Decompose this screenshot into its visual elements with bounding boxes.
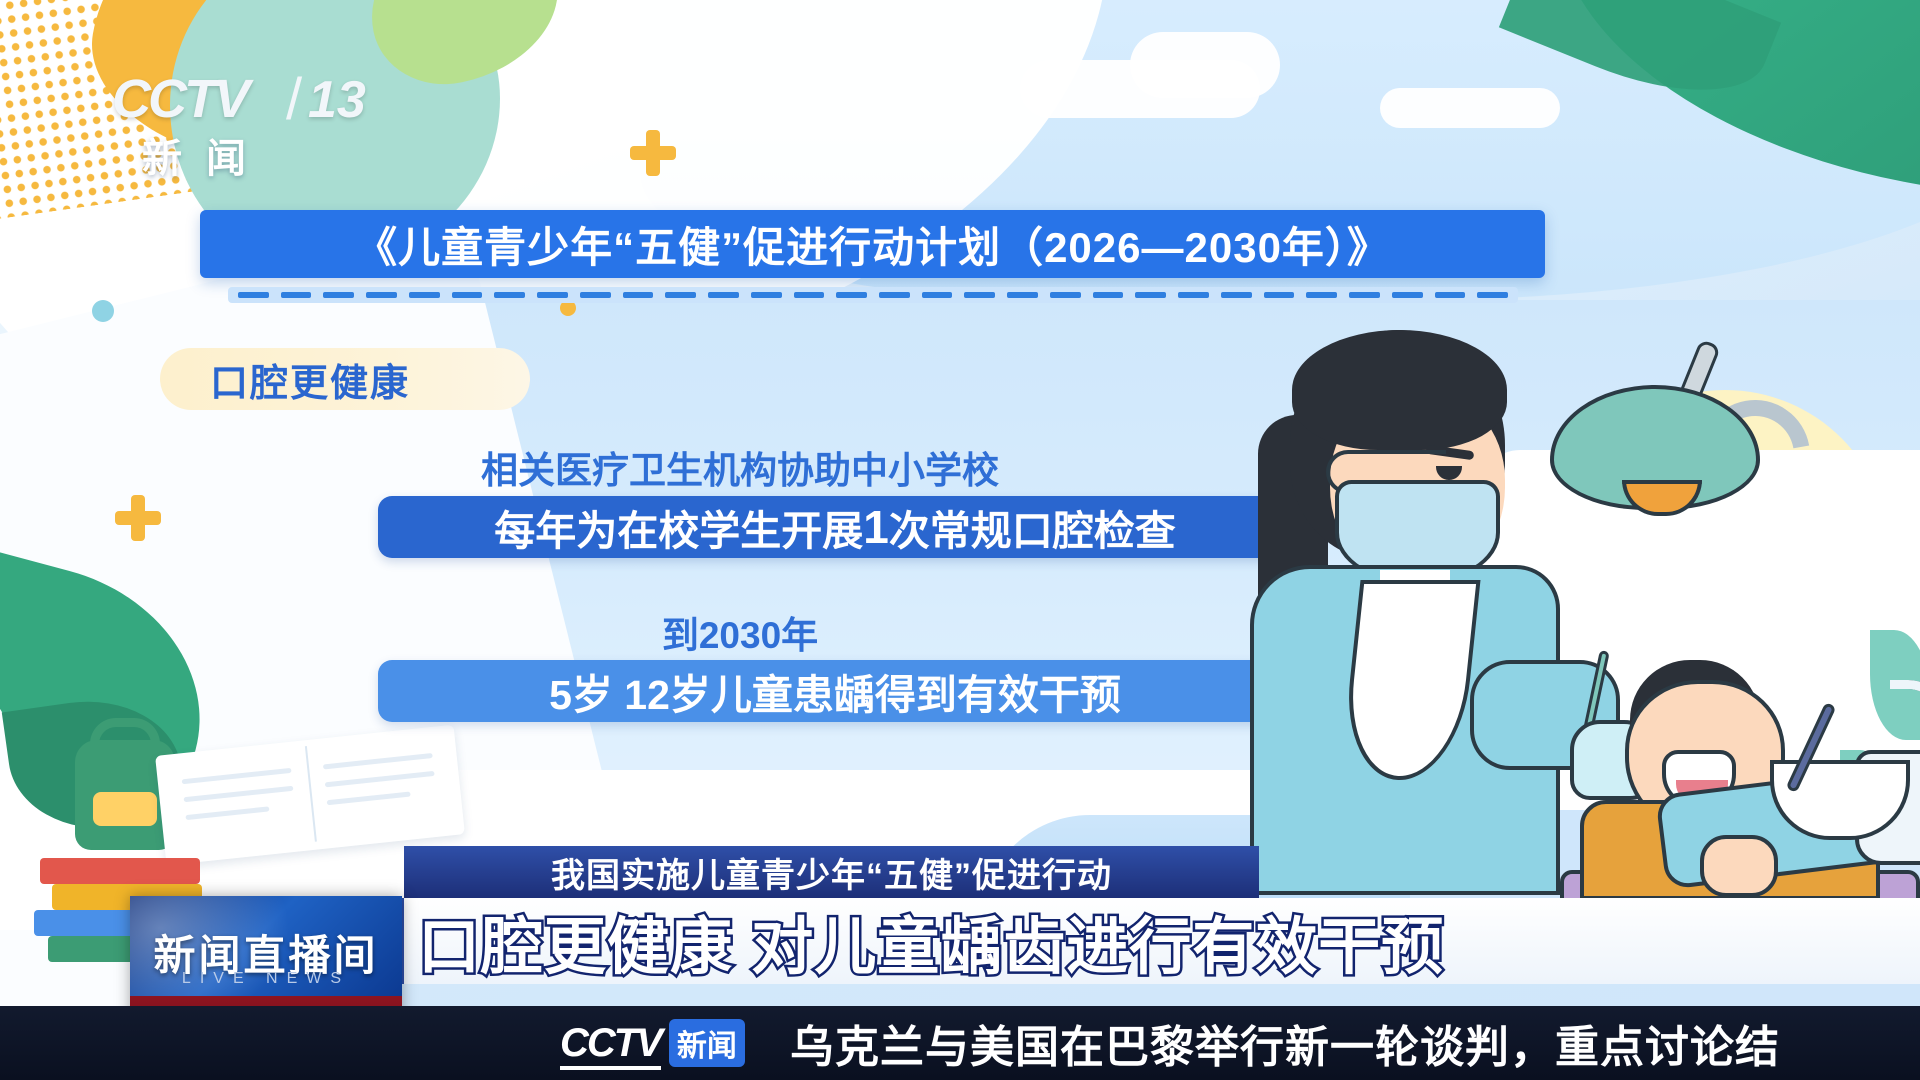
- document-title-banner: 《儿童青少年“五健”促进行动计划（2026—2030年）》: [200, 210, 1545, 278]
- plus-icon-left: [115, 495, 161, 541]
- section-chip-oral-health: 口腔更健康: [160, 348, 530, 410]
- info-bar-highlight-number: 1: [863, 500, 889, 554]
- section-chip-label: 口腔更健康: [210, 352, 410, 407]
- cctv-slash: /: [286, 66, 302, 133]
- info-bar-annual-checkup: 每年为在校学生开展 1 次常规口腔检查: [378, 496, 1292, 558]
- program-name-en: LIVE NEWS: [130, 970, 402, 988]
- cctv-channel-number: 13: [308, 70, 366, 130]
- document-title-text: 《儿童青少年“五健”促进行动计划（2026—2030年）》: [355, 214, 1390, 275]
- faucet-icon: [1890, 680, 1920, 750]
- info-line-1: 相关医疗卫生机构协助中小学校: [380, 440, 1100, 494]
- news-ticker-bar: CCTV 新闻 乌克兰与美国在巴黎举行新一轮谈判，重点讨论结: [0, 1006, 1920, 1080]
- decor-dot-2: [92, 300, 114, 322]
- cloud-shape-3: [1380, 88, 1560, 128]
- ticker-headline-text: 乌克兰与美国在巴黎举行新一轮谈判，重点讨论结: [790, 1011, 1780, 1075]
- info-line-3: 到2030年: [380, 605, 1100, 659]
- info-bar-caries-intervention: 5岁 12岁儿童患龋得到有效干预: [378, 660, 1292, 722]
- cloud-shape-2: [1130, 32, 1280, 98]
- info-bar-text: 5岁 12岁儿童患龋得到有效干预: [549, 661, 1121, 721]
- channel-watermark: CCTV / 13 新闻: [112, 68, 362, 180]
- ticker-cctv-wordmark: CCTV: [560, 1021, 661, 1066]
- dentist-hair-front: [1292, 330, 1507, 450]
- book-stack-item-1: [40, 858, 200, 884]
- lower-third-headline-text: 口腔更健康 对儿童龋齿进行有效干预: [418, 896, 1444, 986]
- plus-icon-top: [630, 130, 676, 176]
- info-bar-text-after: 次常规口腔检查: [889, 497, 1176, 557]
- dentist-illustration: [1230, 330, 1920, 890]
- lower-third-headline-bar: 口腔更健康 对儿童龋齿进行有效干预: [404, 898, 1920, 984]
- cctv-channel-sub: 新闻: [142, 126, 270, 184]
- info-bar-text-before: 每年为在校学生开展: [494, 497, 863, 557]
- ticker-news-badge: 新闻: [669, 1019, 745, 1067]
- lower-third-subtitle-bar: 我国实施儿童青少年“五健”促进行动: [404, 846, 1259, 898]
- lower-third-subtitle-text: 我国实施儿童青少年“五健”促进行动: [551, 848, 1112, 897]
- child-hand: [1700, 835, 1778, 897]
- title-dashed-underline: [228, 287, 1518, 303]
- ticker-brand-logo: CCTV 新闻: [560, 1019, 745, 1067]
- broadcast-screen: CCTV / 13 新闻 《儿童青少年“五健”促进行动计划（2026—2030年…: [0, 0, 1920, 1080]
- cctv-wordmark: CCTV: [112, 68, 247, 130]
